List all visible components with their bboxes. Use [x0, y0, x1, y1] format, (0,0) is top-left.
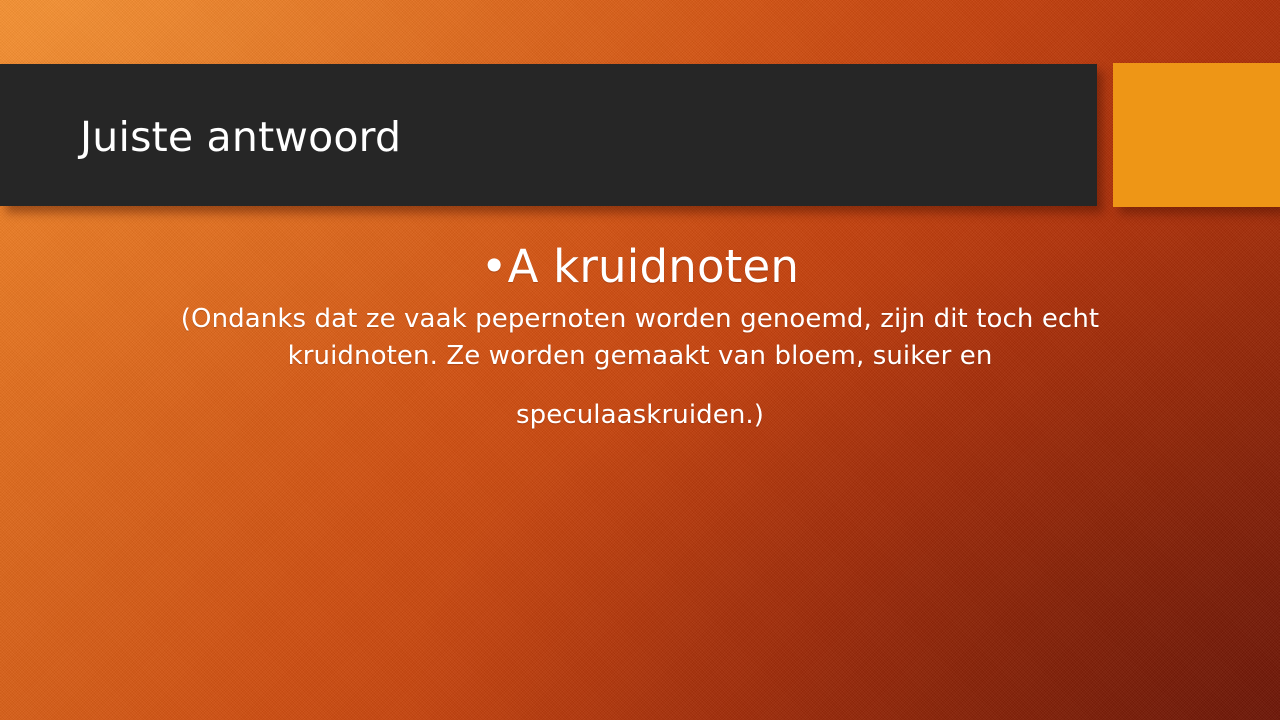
accent-block: [1113, 63, 1280, 207]
presentation-slide: Juiste antwoord •A kruidnoten (Ondanks d…: [0, 0, 1280, 720]
explanation-paragraph: (Ondanks dat ze vaak pepernoten worden g…: [0, 301, 1280, 375]
bullet-answer-line: •A kruidnoten: [0, 240, 1280, 293]
title-bar: Juiste antwoord: [0, 64, 1097, 206]
bullet-answer-text: A kruidnoten: [508, 240, 800, 293]
explanation-paragraph-tail: speculaaskruiden.): [0, 397, 1280, 434]
slide-title: Juiste antwoord: [80, 113, 401, 161]
slide-body: •A kruidnoten (Ondanks dat ze vaak peper…: [0, 240, 1280, 434]
bullet-point-icon: •: [481, 240, 508, 293]
